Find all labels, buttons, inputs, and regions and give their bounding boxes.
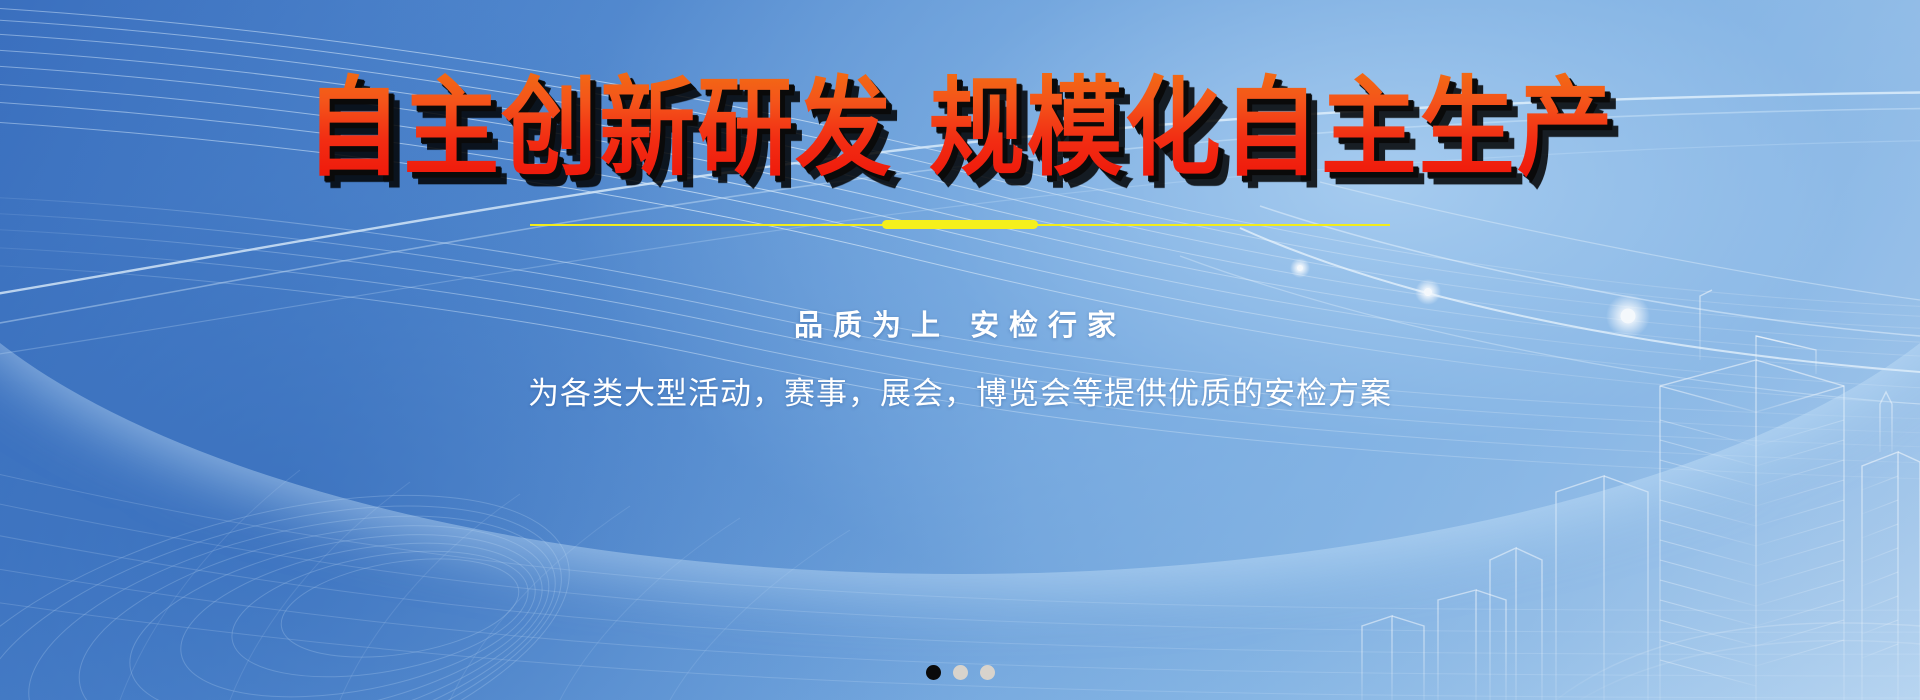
carousel-dot-2[interactable]	[953, 665, 968, 680]
carousel-dot-1[interactable]	[926, 665, 941, 680]
hero-banner: 自主创新研发 规模化自主生产 品质为上 安检行家 为各类大型活动，赛事，展会，博…	[0, 0, 1920, 700]
banner-content: 自主创新研发 规模化自主生产 品质为上 安检行家 为各类大型活动，赛事，展会，博…	[0, 0, 1920, 700]
carousel-dots[interactable]	[0, 665, 1920, 680]
carousel-dot-3[interactable]	[980, 665, 995, 680]
divider-center-nub	[882, 220, 1038, 229]
page-title: 自主创新研发 规模化自主生产	[305, 72, 1614, 186]
tagline: 品质为上 安检行家	[794, 302, 1126, 344]
divider	[530, 220, 1390, 230]
description: 为各类大型活动，赛事，展会，博览会等提供优质的安检方案	[528, 368, 1392, 413]
